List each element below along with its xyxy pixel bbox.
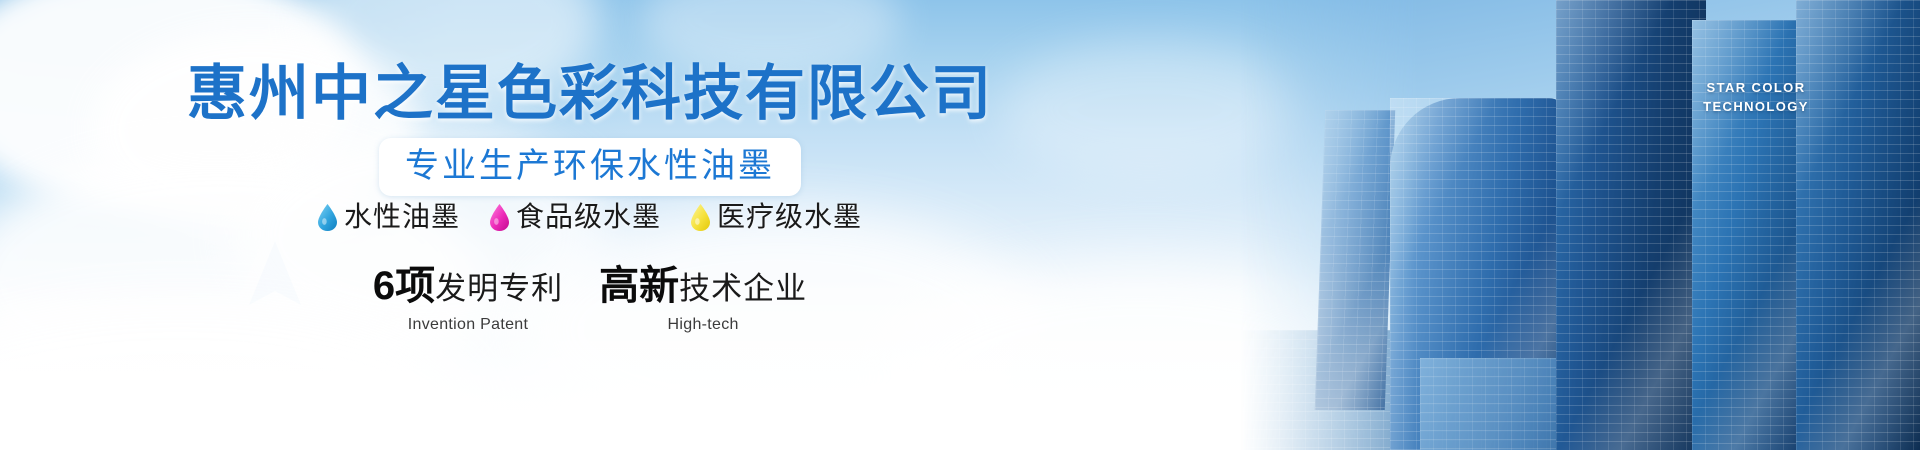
building-block <box>1796 0 1920 450</box>
company-title: 惠州中之星色彩科技有限公司 <box>0 58 1180 130</box>
banner-content: 惠州中之星色彩科技有限公司 专业生产环保水性油墨 水性油墨 <box>0 0 1180 450</box>
badge-strong-text: 高新 <box>599 264 679 308</box>
building-block <box>1556 0 1706 450</box>
photo-brand-line-2: TECHNOLOGY <box>1692 97 1820 116</box>
product-item: 医疗级水墨 <box>691 200 862 234</box>
badge-strong-text: 6项 <box>373 264 435 308</box>
badge-invention-patent: 6项发明专利 Invention Patent <box>373 262 563 335</box>
product-item: 水性油墨 <box>318 200 460 234</box>
product-label: 食品级水墨 <box>516 200 661 234</box>
badge-english-text: Invention Patent <box>373 315 563 335</box>
product-label: 医疗级水墨 <box>717 200 862 234</box>
product-item: 食品级水墨 <box>490 200 661 234</box>
badge-rest-text: 发明专利 <box>435 271 563 306</box>
ink-drop-icon <box>318 204 337 231</box>
photo-brand-line-1: STAR COLOR <box>1692 78 1820 97</box>
skyscraper-photo: STAR COLOR TECHNOLOGY <box>1240 0 1920 450</box>
achievement-badges: 6项发明专利 Invention Patent 高新技术企业 High-tech <box>0 262 1180 335</box>
company-hero-banner: Star Color STAR COLOR TECHNOLOGY 惠州中之星色彩… <box>0 0 1920 450</box>
building-block <box>1315 110 1395 410</box>
badge-rest-text: 技术企业 <box>679 271 807 306</box>
badge-high-tech: 高新技术企业 High-tech <box>599 262 807 335</box>
badge-english-text: High-tech <box>599 315 807 335</box>
subtitle-container: 专业生产环保水性油墨 <box>0 138 1180 196</box>
product-label: 水性油墨 <box>344 200 460 234</box>
ink-drop-icon <box>490 204 509 231</box>
photo-brand-overlay: STAR COLOR TECHNOLOGY <box>1692 78 1820 116</box>
product-list: 水性油墨 食品级水墨 <box>0 200 1180 234</box>
ink-drop-icon <box>691 204 710 231</box>
subtitle-pill: 专业生产环保水性油墨 <box>379 138 801 196</box>
